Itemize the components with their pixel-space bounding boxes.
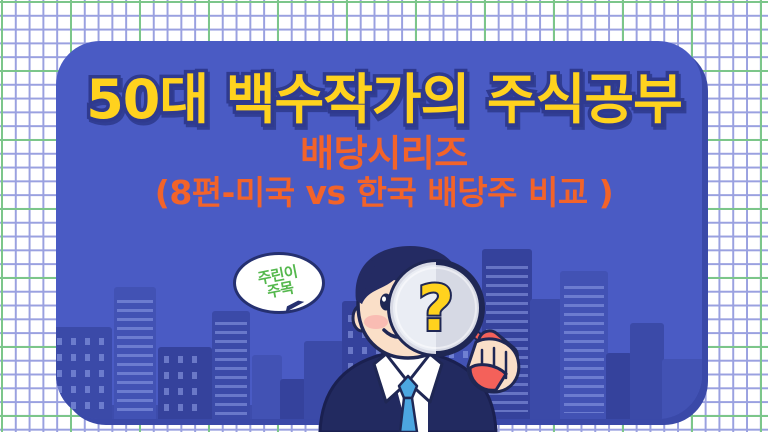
speech-bubble: 주린이 주목	[233, 252, 325, 314]
building-left-3	[158, 347, 212, 419]
building-left-2	[114, 287, 156, 419]
magnifier-lens: ?	[390, 262, 482, 354]
building-windows	[57, 338, 104, 413]
building-right-6	[662, 359, 702, 419]
question-mark-icon: ?	[418, 272, 454, 345]
hand	[468, 339, 519, 392]
building-left-1	[56, 327, 112, 419]
poster-canvas: 50대 백수작가의 주식공부 배당시리즈 (8편-미국 vs 한국 배당주 비교…	[0, 0, 768, 432]
building-windows	[117, 300, 152, 414]
building-left-5	[252, 355, 282, 419]
speech-bubble-text: 주린이 주목	[228, 244, 330, 322]
building-windows	[215, 322, 247, 415]
building-windows	[164, 356, 205, 415]
building-right-5	[630, 323, 664, 419]
speech-bubble-line-2: 주목	[266, 280, 295, 300]
building-right-4	[606, 353, 632, 419]
character-illustration: ?	[300, 246, 580, 432]
blush-left	[364, 315, 388, 329]
building-left-4	[212, 311, 250, 419]
